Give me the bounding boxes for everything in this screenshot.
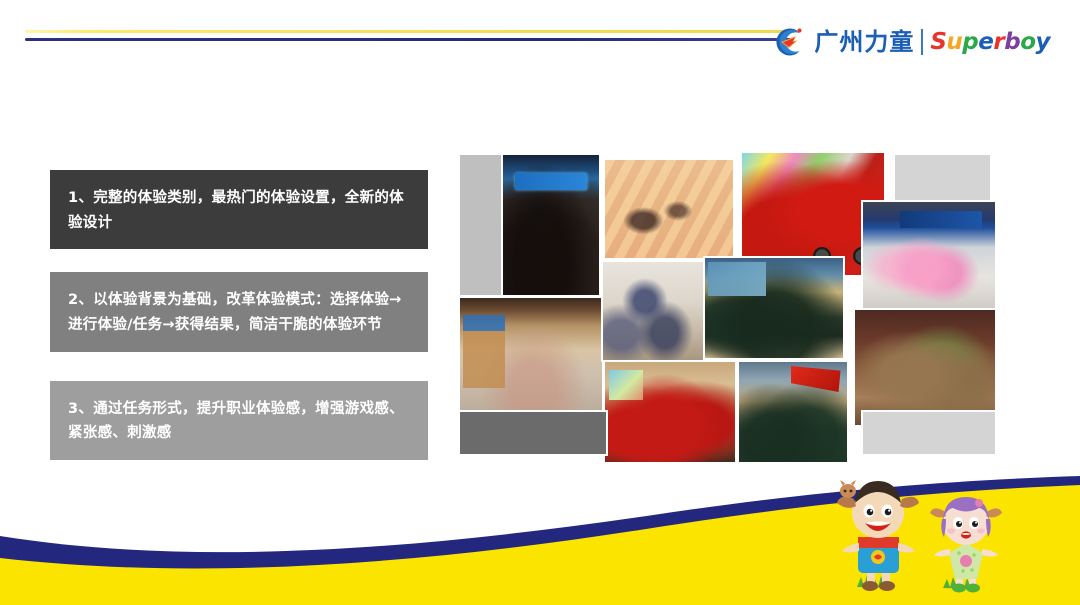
logo-letter: S	[930, 29, 946, 55]
booth-sign	[900, 211, 982, 228]
collage-photo-brown-uniform-kids	[855, 310, 995, 425]
logo-letter: p	[962, 29, 978, 55]
bullet-item-3: 3、通过任务形式，提升职业体验感，增强游戏感、紧张感、刺激感	[50, 381, 428, 460]
collage-photo-beds	[605, 160, 733, 258]
mascot-boy-icon	[835, 475, 921, 595]
collage-placeholder-bottom-right	[863, 412, 995, 454]
collage-photo-flag-ceremony	[739, 362, 847, 462]
bullet-item-2: 2、以体验背景为基础，改革体验模式：选择体验→进行体验/任务→获得结果，简洁干脆…	[50, 272, 428, 351]
bullet-list: 1、完整的体验类别，最热门的体验设置，全新的体验设计 2、以体验背景为基础，改革…	[50, 170, 430, 460]
corridor-kiosk	[463, 315, 506, 388]
collage-photo-police-kids	[705, 258, 843, 358]
collage-photo-red-hat-kids	[605, 362, 735, 462]
logo-letter: e	[978, 29, 993, 55]
logo-letter: u	[946, 29, 962, 55]
venue-banner	[515, 173, 588, 190]
logo-letter: b	[1004, 29, 1020, 55]
logo-letter: y	[1036, 29, 1051, 55]
header-rule-navy	[25, 38, 791, 41]
collage-photo-pink-kids	[863, 202, 995, 310]
presentation-slide: 广州力童 Superboy 1、完整的体验类别，最热门的体验设置，全新的体验设计…	[0, 0, 1080, 605]
mascot-girl-icon	[927, 491, 1005, 595]
wall-board	[708, 262, 766, 296]
swoosh-circle-rocket-icon	[769, 26, 807, 58]
collage-photo-mall-corridor	[460, 298, 602, 416]
collage-photo-crowd-hall	[503, 155, 599, 295]
logo-letter: r	[993, 29, 1004, 55]
header-rule-yellow	[25, 30, 795, 33]
wall-screen	[609, 370, 643, 400]
bullet-item-1: 1、完整的体验类别，最热门的体验设置，全新的体验设计	[50, 170, 428, 249]
red-flag	[791, 366, 841, 392]
logo-divider	[921, 29, 923, 55]
mascot-group	[835, 470, 1010, 595]
brand-logo: 广州力童 Superboy	[769, 22, 1050, 62]
collage-photo-classroom	[603, 262, 703, 360]
logo-english-text: Superboy	[930, 31, 1050, 54]
collage-placeholder-right-top	[895, 155, 990, 200]
photo-collage	[455, 150, 1035, 450]
logo-chinese-text: 广州力童	[814, 30, 914, 54]
logo-letter: o	[1020, 29, 1035, 55]
collage-placeholder-bottom-left	[460, 412, 606, 454]
header-rule-group	[25, 30, 795, 44]
